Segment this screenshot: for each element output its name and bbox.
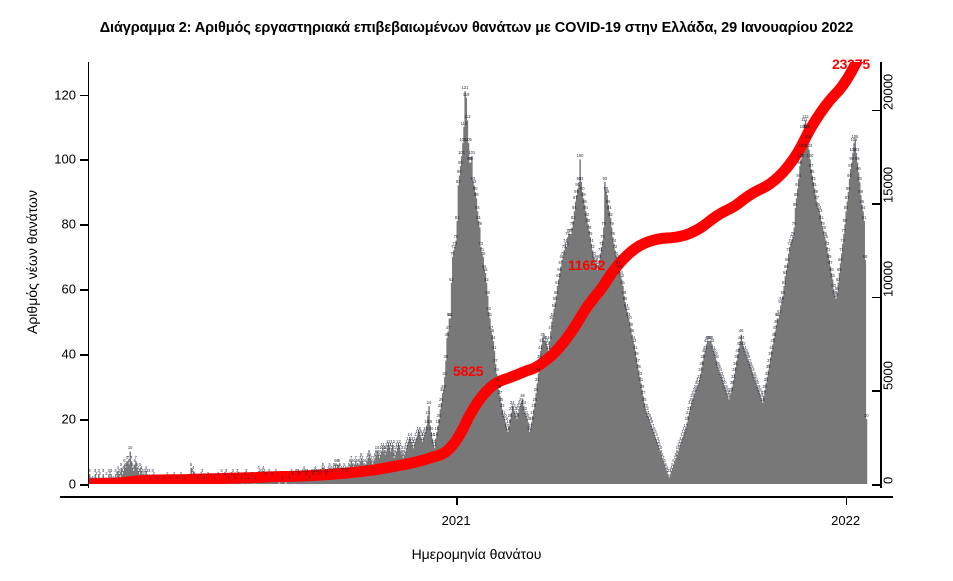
bar-value-label: 1 (281, 476, 283, 480)
bar-value-label: 17 (528, 424, 533, 428)
bar-value-label: 64 (783, 271, 788, 275)
bar-value-label: 43 (710, 339, 715, 343)
y-tick-left-label: 20 (62, 412, 76, 427)
bar-value-label: 53 (625, 307, 630, 311)
bar-value-label: 81 (819, 216, 824, 220)
bar-value-label: 32 (731, 375, 736, 379)
bar-value-label: 57 (834, 294, 839, 298)
bar-value-label: 92 (456, 180, 461, 184)
bar-value-label: 106 (804, 135, 811, 139)
bar-value-label: 65 (837, 268, 842, 272)
bar-value-label: 18 (507, 420, 512, 424)
bar-value-label: 2 (207, 472, 209, 476)
bar-value-label: 56 (623, 297, 628, 301)
bar-value-label: 31 (495, 378, 500, 382)
bar-value-label: 33 (637, 372, 642, 376)
bar-value-label: 1 (214, 476, 216, 480)
bar-value-label: 73 (825, 242, 830, 246)
bar-value-label: 27 (498, 391, 503, 395)
bar-value-label: 29 (441, 385, 446, 389)
bar-value-label: 87 (573, 196, 578, 200)
bar-value-label: 22 (687, 407, 692, 411)
bar-value-label: 47 (446, 326, 451, 330)
chart-figure: Διάγραμμα 2: Αριθμός εργαστηριακά επιβεβ… (0, 0, 953, 581)
bar-value-label: 99 (855, 157, 860, 161)
bar-value-label: 82 (608, 213, 613, 217)
bar-value-label: 59 (835, 287, 840, 291)
y-tick-left-label: 0 (69, 477, 76, 492)
bar-value-label: 100 (807, 154, 814, 158)
bar-value-label: 69 (827, 255, 832, 259)
bar-value-label: 63 (619, 274, 624, 278)
bar-value-label: 85 (793, 203, 798, 207)
bar-value-label: 73 (478, 242, 483, 246)
bar-value-label: 34 (494, 368, 499, 372)
bar-value-label: 81 (571, 216, 576, 220)
bar-value-label: 3 (220, 469, 222, 473)
bar-value-label: 93 (602, 177, 607, 181)
y-tick-left (80, 159, 89, 161)
bar-value-label: 98 (798, 161, 803, 165)
bar-value-label: 5 (124, 463, 126, 467)
bar-value-label: 86 (582, 200, 587, 204)
bar-value-label: 78 (821, 226, 826, 230)
bar-value-label: 61 (782, 281, 787, 285)
bar-value-label: 101 (458, 151, 465, 155)
x-axis-spine (60, 496, 893, 498)
bar-value-label: 81 (476, 216, 481, 220)
bar-value-label: 62 (484, 278, 489, 282)
cumulative-annotation-11652: 11652 (568, 257, 605, 273)
bar-value-label: 72 (590, 245, 595, 249)
bar-value-label: 24 (427, 401, 432, 405)
bar-value-label: 48 (628, 323, 633, 327)
bar-value-label: 79 (609, 222, 614, 226)
bar-value-label: 75 (600, 235, 605, 239)
y-tick-left (80, 354, 89, 356)
bar-value-label: 33 (765, 372, 770, 376)
x-tick (456, 496, 458, 505)
bar-value-label: 84 (475, 206, 480, 210)
bar-value-label: 3 (225, 469, 227, 473)
bar-value-label: 106 (852, 135, 859, 139)
bar-value-label: 29 (763, 385, 768, 389)
bar-value-label: 61 (555, 281, 560, 285)
bar-value-label: 94 (796, 174, 801, 178)
bar-value-label: 38 (701, 355, 706, 359)
bar-value-label: 90 (473, 187, 478, 191)
bar-value-label: 2 (271, 472, 273, 476)
bar-value-label: 46 (490, 329, 495, 333)
bars-group (89, 91, 867, 484)
bar-value-label: 110 (461, 122, 468, 126)
bar-value-label: 56 (779, 297, 784, 301)
bar-value-label: 69 (615, 255, 620, 259)
bar-value-label: 112 (464, 115, 471, 119)
bar-value-label: 3 (88, 469, 90, 473)
bar-value-label: 89 (574, 190, 579, 194)
bar-value-label: 96 (856, 167, 861, 171)
y-tick-right (872, 203, 881, 205)
bar-value-label: 3 (274, 469, 276, 473)
bar-value-label: 37 (493, 359, 498, 363)
bar-value-label: 50 (627, 316, 632, 320)
bar-value-label: 25 (760, 398, 765, 402)
bar-value-label: 119 (463, 93, 470, 97)
y-tick-right-label: 20000 (881, 74, 896, 110)
bar-value-label: 62 (836, 278, 841, 282)
bar-value-label: 71 (598, 248, 603, 252)
bar-value-label: 77 (841, 229, 846, 233)
bar-value-label: 97 (848, 164, 853, 168)
y-tick-left (80, 484, 89, 486)
bar-value-label: 41 (633, 346, 638, 350)
bar-value-label: 4 (132, 466, 134, 470)
bar-value-label: 41 (546, 346, 551, 350)
bar-value-label: 2 (217, 472, 219, 476)
bar-value-label: 1 (176, 476, 178, 480)
bar-value-label: 19 (685, 417, 690, 421)
bar-value-label: 23 (438, 404, 443, 408)
bar-value-label: 38 (444, 355, 449, 359)
y-axis-left: 020406080100120 Αριθμός νέων θανάτων (0, 58, 89, 488)
bar-value-label: 79 (601, 222, 606, 226)
bar-value-label: 37 (767, 359, 772, 363)
bar-value-label: 28 (729, 388, 734, 392)
bar-value-label: 86 (606, 200, 611, 204)
y-tick-left-label: 40 (62, 347, 76, 362)
bar-value-label: 1 (203, 476, 205, 480)
bar-value-label: 3 (201, 469, 203, 473)
bar-value-label: 93 (579, 177, 584, 181)
bar-value-label: 7 (130, 456, 132, 460)
bar-value-label: 56 (553, 297, 558, 301)
bar-value-label: 24 (521, 401, 526, 405)
bar-value-label: 99 (468, 157, 473, 161)
bar-value-label: 34 (698, 368, 703, 372)
bar-value-label: 49 (774, 320, 779, 324)
bar-value-label: 95 (810, 170, 815, 174)
bar-value-label: 89 (813, 190, 818, 194)
bar-value-label: 97 (809, 164, 814, 168)
bar-value-label: 103 (805, 144, 812, 148)
bar-value-label: 4 (192, 466, 194, 470)
bar-value-label: 99 (849, 157, 854, 161)
bar-value-label: 67 (828, 261, 833, 265)
bar-value-label: 20 (508, 414, 513, 418)
x-tick-label: 2021 (442, 513, 471, 528)
bar-value-label: 16 (423, 427, 428, 431)
bar-value-label: 86 (860, 200, 865, 204)
bar-value-label: 1 (227, 476, 229, 480)
bar-value-label: 83 (818, 209, 823, 213)
bar-value-label: 74 (611, 239, 616, 243)
chart-title: Διάγραμμα 2: Αριθμός εργαστηριακά επιβεβ… (0, 20, 953, 36)
x-tick-label: 2022 (831, 513, 860, 528)
bar-value-label: 2 (99, 472, 101, 476)
bar-value-label: 78 (587, 226, 592, 230)
bar-value-label: 1 (234, 476, 236, 480)
bar-value-label: 2 (251, 472, 253, 476)
bar-value-label: 105 (465, 138, 472, 142)
bar-value-label: 79 (477, 222, 482, 226)
bar-value-label: 100 (797, 154, 804, 158)
bar-value-label: 91 (795, 183, 800, 187)
bar-value-label: 92 (472, 180, 477, 184)
bar-value-label: 100 (577, 154, 584, 158)
y-tick-right-label: 0 (881, 477, 896, 484)
bar-value-label: 1 (288, 476, 290, 480)
bar-value-label: 40 (736, 349, 741, 353)
bar-value-label: 72 (613, 245, 618, 249)
bar-value-label: 84 (844, 206, 849, 210)
bar-value-label: 7 (135, 456, 137, 460)
bar-value-label: 66 (784, 265, 789, 269)
bar-value-label: 47 (773, 326, 778, 330)
bar-value-label: 25 (439, 398, 444, 402)
bar-value-label: 84 (861, 206, 866, 210)
y-axis-left-title: Αριθμός νέων θανάτων (24, 112, 40, 412)
bar-value-label: 75 (454, 235, 459, 239)
bar-value-label: 93 (811, 177, 816, 181)
bar-value-label: 2 (291, 472, 293, 476)
bar-value-label: 34 (536, 368, 541, 372)
bar-value-label: 3 (102, 469, 104, 473)
bar-value-label: 29 (640, 385, 645, 389)
bar-value-label: 25 (533, 398, 538, 402)
bar-value-label: 58 (781, 291, 786, 295)
bar-value-label: 74 (589, 239, 594, 243)
bar-value-label: 23 (531, 404, 536, 408)
bar-value-label: 35 (766, 365, 771, 369)
bar-value-label: 51 (448, 313, 453, 317)
bar-value-label: 81 (862, 216, 867, 220)
bar-value-label: 65 (557, 268, 562, 272)
bar-value-label: 3 (268, 469, 270, 473)
bar-value-label: 23 (500, 404, 505, 408)
bar-value-label: 1 (254, 476, 256, 480)
bar-value-label: 30 (730, 381, 735, 385)
bar-value-label: 44 (740, 336, 745, 340)
bar-value-label: 76 (588, 232, 593, 236)
x-axis-title: Ημερομηνία θανάτου (60, 546, 893, 562)
bar-value-label: 63 (556, 274, 561, 278)
bar-value-label: 89 (605, 190, 610, 194)
bar-value-label: 102 (853, 148, 860, 152)
bar-value-label: 2 (173, 472, 175, 476)
bar-value-label: 121 (462, 86, 469, 90)
bar-value-label: 70 (561, 252, 566, 256)
bar-value-label: 93 (857, 177, 862, 181)
y-tick-right (872, 484, 881, 486)
bar-value-label: 31 (535, 378, 540, 382)
bar-value-label: 2 (166, 472, 168, 476)
bar-value-label: 53 (486, 307, 491, 311)
bar-value-label: 54 (552, 304, 557, 308)
bar-value-label: 65 (829, 268, 834, 272)
y-tick-left (80, 289, 89, 291)
bar-value-label: 2 (193, 472, 195, 476)
y-axis-right: 05000100001500020000 Συνολικός αριθμός θ… (868, 58, 953, 488)
bar-value-label: 65 (483, 268, 488, 272)
bar-value-label: 1 (163, 476, 165, 480)
y-tick-left-label: 60 (62, 282, 76, 297)
bar-value-label: 69 (863, 255, 868, 259)
bar-value-label: 91 (812, 183, 817, 187)
bar-value-label: 79 (570, 222, 575, 226)
bar-value-label: 89 (858, 190, 863, 194)
bar-value-label: 70 (450, 252, 455, 256)
bar-value-label: 3 (148, 469, 150, 473)
bar-value-label: 43 (632, 339, 637, 343)
bar-value-label: 71 (786, 248, 791, 252)
bar-value-label: 75 (823, 235, 828, 239)
bar-value-label: 51 (551, 313, 556, 317)
bar-value-label: 88 (474, 193, 479, 197)
bar-value-label: 44 (491, 336, 496, 340)
y-tick-right (872, 297, 881, 299)
bar-value-label: 79 (792, 222, 797, 226)
bar-value-label: 68 (838, 258, 843, 262)
bar-value-label: 88 (581, 193, 586, 197)
bar-value-label: 76 (791, 232, 796, 236)
bar-value-label: 1 (183, 476, 185, 480)
bar-value-label: 39 (768, 352, 773, 356)
bar-value-label: 26 (520, 394, 525, 398)
bar-value-label: 73 (453, 242, 458, 246)
bar-value-label: 20 (515, 414, 520, 418)
bar-value-label: 82 (584, 213, 589, 217)
bar-value-label: 2 (264, 472, 266, 476)
bar-value-label: 25 (642, 398, 647, 402)
bar-value-label: 74 (840, 239, 845, 243)
bar-value-label: 37 (635, 359, 640, 363)
cumulative-annotation-5825: 5825 (453, 363, 483, 379)
bar-value-label: 32 (697, 375, 702, 379)
bar-value-label: 84 (607, 206, 612, 210)
bar-value-label: 71 (826, 248, 831, 252)
bar-value-label: 98 (458, 161, 463, 165)
bar-value-label: 16 (506, 427, 511, 431)
bar-value-label: 1 (112, 476, 114, 480)
bar-value-label: 3 (245, 469, 247, 473)
bar-value-label: 46 (739, 329, 744, 333)
bar-value-label: 1 (247, 476, 249, 480)
bar-value-label: 2 (298, 472, 300, 476)
bar-value-label: 34 (732, 368, 737, 372)
bar-value-label: 18 (436, 420, 441, 424)
bar-value-label: 61 (621, 281, 626, 285)
bar-value-label: 52 (777, 310, 782, 314)
bar-value-label: 1 (197, 476, 199, 480)
bar-value-label: 21 (425, 411, 430, 415)
bar-value-label: 3 (232, 469, 234, 473)
bar-value-label: 27 (761, 391, 766, 395)
bar-value-label: 71 (839, 248, 844, 252)
bar-value-label: 45 (445, 333, 450, 337)
bar-value-label: 43 (770, 339, 775, 343)
bar-value-label: 80 (843, 219, 848, 223)
bar-value-label: 41 (703, 346, 708, 350)
bar-value-label: 25 (499, 398, 504, 402)
bar-value-label: 58 (554, 291, 559, 295)
bar-value-label: 33 (442, 372, 447, 376)
cumulative-annotation-23275: 23275 (832, 56, 870, 72)
bar-value-label: 94 (847, 174, 852, 178)
x-tick (846, 496, 848, 505)
bar-value-label: 73 (564, 242, 569, 246)
bar-value-label: 2 (153, 472, 155, 476)
bar-value-label: 90 (846, 187, 851, 191)
bar-value-label: 90 (580, 187, 585, 191)
bar-value-label: 1 (149, 476, 151, 480)
bar-value-label: 87 (814, 196, 819, 200)
bar-value-label: 66 (617, 265, 622, 269)
bar-value-label: 51 (487, 313, 492, 317)
bar-value-label: 18 (428, 420, 433, 424)
bar-value-label: 80 (586, 219, 591, 223)
bar-value-label: 3 (110, 469, 112, 473)
bar-value-label: 31 (639, 378, 644, 382)
bar-value-label: 68 (785, 258, 790, 262)
bar-value-label: 73 (599, 242, 604, 246)
x-axis: 20212022 Ημερομηνία θανάτου (60, 496, 893, 576)
bar-value-label: 16 (435, 427, 440, 431)
bar-value-label: 95 (457, 170, 462, 174)
bar-value-label: 45 (772, 333, 777, 337)
y-tick-left (80, 95, 89, 97)
bar-value-label: 63 (830, 274, 835, 278)
bar-value-label: 1 (170, 476, 172, 480)
y-tick-left-label: 100 (54, 152, 76, 167)
bar-value-label: 84 (572, 206, 577, 210)
y-tick-right-label: 15000 (881, 167, 896, 203)
bar-value-label: 70 (481, 252, 486, 256)
bar-value-label: 101 (468, 151, 475, 155)
bar-value-label: 58 (485, 291, 490, 295)
bar-value-label: 2 (237, 472, 239, 476)
bar-value-label: 39 (634, 352, 639, 356)
bar-value-label: 109 (803, 125, 810, 129)
bar-value-label: 1 (308, 476, 310, 480)
bar-value-label: 84 (583, 206, 588, 210)
bar-value-label: 67 (559, 261, 564, 265)
bar-value-label: 41 (769, 346, 774, 350)
bar-value-label: 87 (845, 196, 850, 200)
bar-value-label: 38 (734, 355, 739, 359)
bar-value-label: 44 (547, 336, 552, 340)
bar-value-label: 41 (538, 346, 543, 350)
bar-value-label: 28 (534, 388, 539, 392)
bar-value-label: 29 (497, 385, 502, 389)
y-tick-right-label: 10000 (881, 261, 896, 297)
bar-value-label: 11 (432, 443, 436, 447)
y-tick-right (872, 390, 881, 392)
bar-value-label: 46 (630, 329, 635, 333)
bar-value-label: 19 (529, 417, 534, 421)
bar-value-label: 35 (636, 365, 641, 369)
bar-value-label: 81 (455, 216, 460, 220)
bar-value-label: 38 (537, 355, 542, 359)
bar-value-label: 31 (764, 378, 769, 382)
bar-value-label: 1 (92, 476, 94, 480)
bar-value-label: 1 (241, 476, 243, 480)
bar-value-label: 27 (641, 391, 646, 395)
bar-value-label: 77 (569, 229, 574, 233)
bar-value-label: 17 (684, 424, 689, 428)
y-tick-right-label: 5000 (881, 361, 896, 390)
plot-area: 3132323232313243253465776107546754354323… (89, 62, 868, 484)
